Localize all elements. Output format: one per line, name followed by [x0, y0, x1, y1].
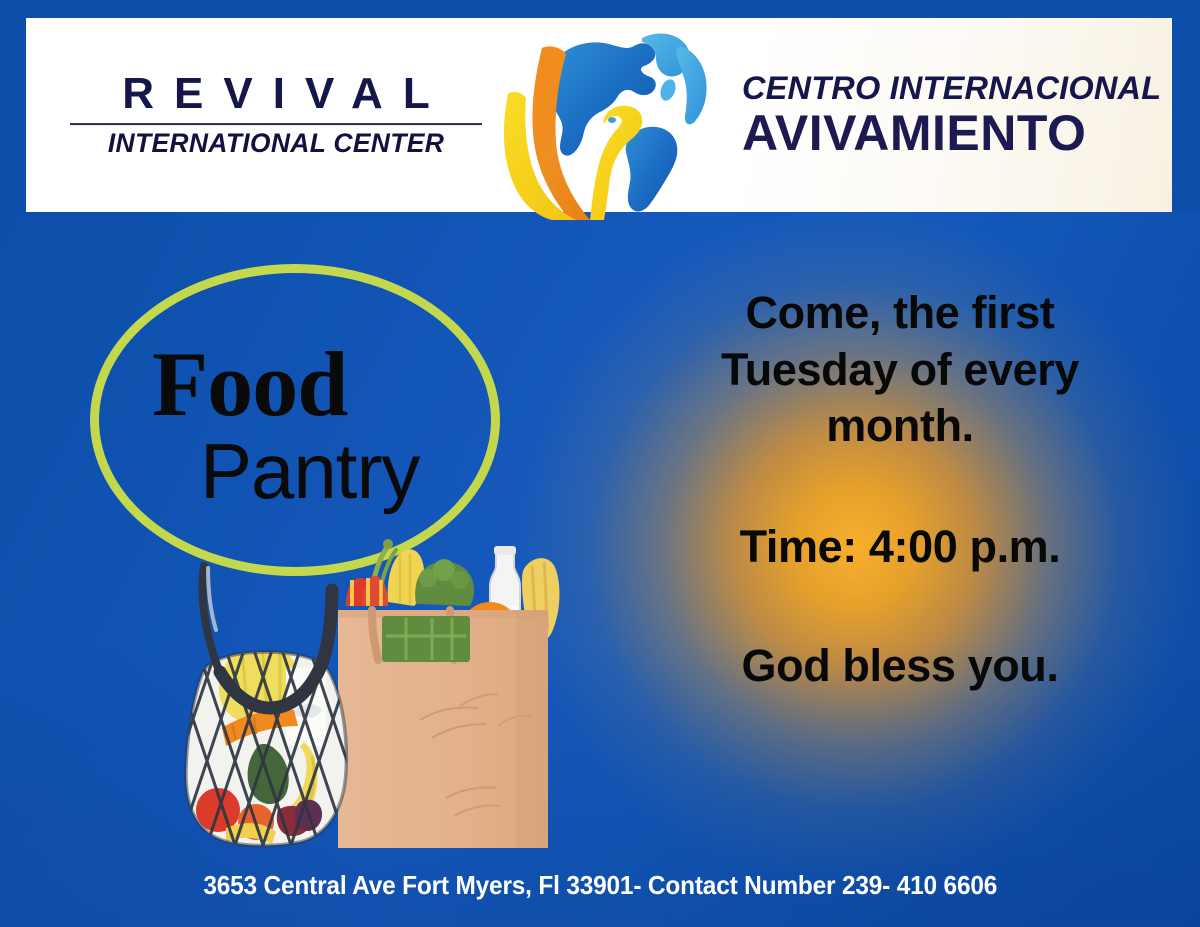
grocery-bags-icon	[160, 510, 580, 860]
globe-flame-icon	[492, 24, 722, 222]
message-block: Come, the first Tuesday of every month. …	[630, 285, 1170, 694]
revival-divider	[70, 123, 482, 125]
message-spacer-2	[630, 576, 1170, 638]
message-line-3: month.	[630, 398, 1170, 455]
pantry-title-food: Food	[152, 338, 347, 430]
pantry-title-pantry: Pantry	[200, 432, 419, 510]
message-line-2: Tuesday of every	[630, 342, 1170, 399]
revival-wordmark: REVIVAL INTERNATIONAL CENTER	[66, 72, 486, 158]
food-pantry-block: Food Pantry	[60, 240, 620, 860]
message-line-time: Time: 4:00 p.m.	[630, 519, 1170, 576]
revival-subtitle: INTERNATIONAL CENTER	[66, 130, 486, 158]
message-line-blessing: God bless you.	[630, 638, 1170, 695]
footer: 3653 Central Ave Fort Myers, Fl 33901- C…	[0, 870, 1200, 901]
avivamiento-title: AVIVAMIENTO	[742, 108, 1162, 159]
logo-header-band: REVIVAL INTERNATIONAL CENTER	[26, 18, 1172, 212]
message-line-1: Come, the first	[630, 285, 1170, 342]
footer-contact-text: 3653 Central Ave Fort Myers, Fl 33901- C…	[203, 870, 997, 901]
avivamiento-wordmark: CENTRO INTERNACIONAL AVIVAMIENTO	[742, 71, 1162, 159]
centro-title: CENTRO INTERNACIONAL	[742, 71, 1162, 105]
message-spacer-1	[630, 455, 1170, 519]
flyer-poster: REVIVAL INTERNATIONAL CENTER	[0, 0, 1200, 927]
revival-title: REVIVAL	[66, 72, 486, 116]
